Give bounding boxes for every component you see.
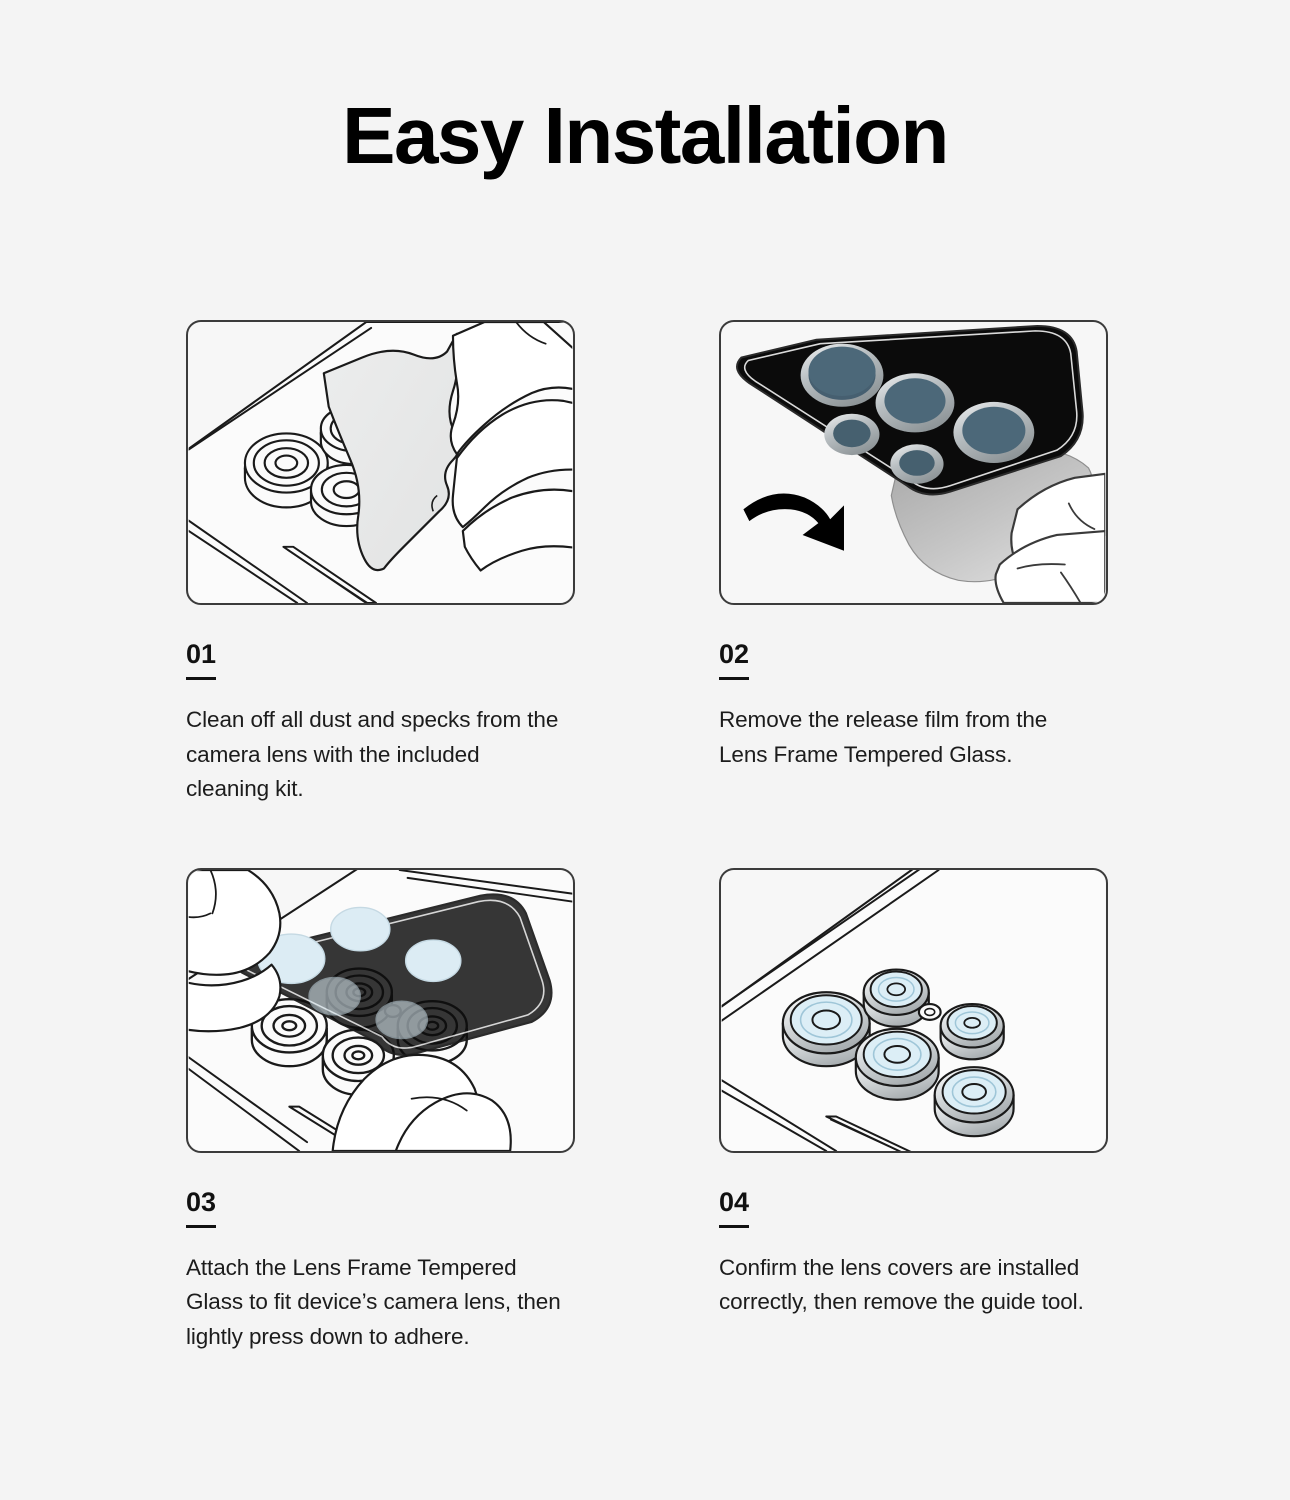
step-number: 01 bbox=[186, 641, 216, 680]
step-number: 04 bbox=[719, 1189, 749, 1228]
step-description: Attach the Lens Frame Tempered Glass to … bbox=[186, 1251, 561, 1355]
illustration-attach-lens-frame-to-camera bbox=[186, 868, 575, 1153]
illustration-installed-lens-covers bbox=[719, 868, 1108, 1153]
illustration-phone-camera-cleaning-cloth bbox=[186, 320, 575, 605]
step-card-03: 03 Attach the Lens Frame Tempered Glass … bbox=[186, 868, 575, 1355]
step-number: 03 bbox=[186, 1189, 216, 1228]
step-description: Remove the release film from the Lens Fr… bbox=[719, 703, 1094, 772]
step-card-01: 01 Clean off all dust and specks from th… bbox=[186, 320, 575, 807]
step-card-02: 02 Remove the release film from the Lens… bbox=[719, 320, 1108, 807]
installation-guide-page: Easy Installation bbox=[0, 0, 1290, 1500]
step-number: 02 bbox=[719, 641, 749, 680]
steps-grid: 01 Clean off all dust and specks from th… bbox=[186, 320, 1108, 1354]
step-description: Clean off all dust and specks from the c… bbox=[186, 703, 561, 807]
step-description: Confirm the lens covers are installed co… bbox=[719, 1251, 1094, 1320]
illustration-lens-frame-peel-release-film bbox=[719, 320, 1108, 605]
page-title: Easy Installation bbox=[0, 96, 1290, 176]
step-card-04: 04 Confirm the lens covers are installed… bbox=[719, 868, 1108, 1355]
